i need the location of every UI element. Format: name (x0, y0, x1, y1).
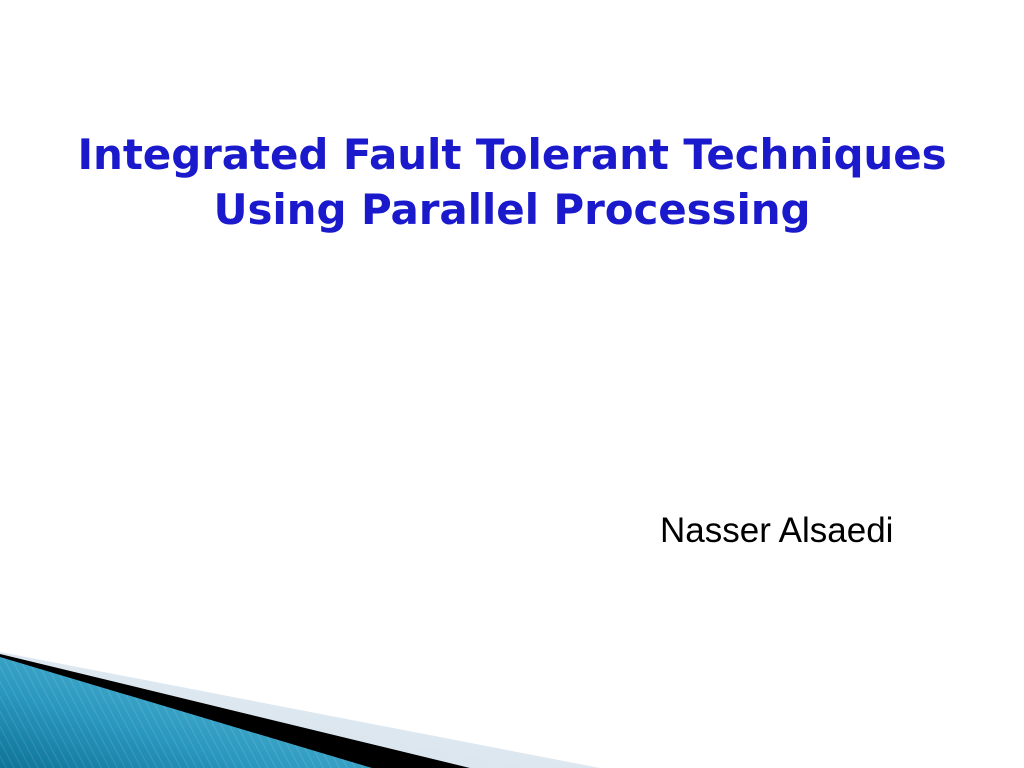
teal-wedge (0, 657, 372, 768)
corner-decoration-graphic (0, 638, 640, 768)
title-line-2: Using Parallel Processing (62, 183, 962, 238)
author-name: Nasser Alsaedi (660, 510, 893, 552)
pale-wedge (0, 652, 600, 768)
teal-wedge-texture (0, 657, 372, 768)
black-band (0, 654, 470, 768)
presentation-slide: Integrated Fault Tolerant Techniques Usi… (0, 0, 1024, 768)
title-line-1: Integrated Fault Tolerant Techniques (62, 128, 962, 183)
slide-title: Integrated Fault Tolerant Techniques Usi… (62, 128, 962, 237)
